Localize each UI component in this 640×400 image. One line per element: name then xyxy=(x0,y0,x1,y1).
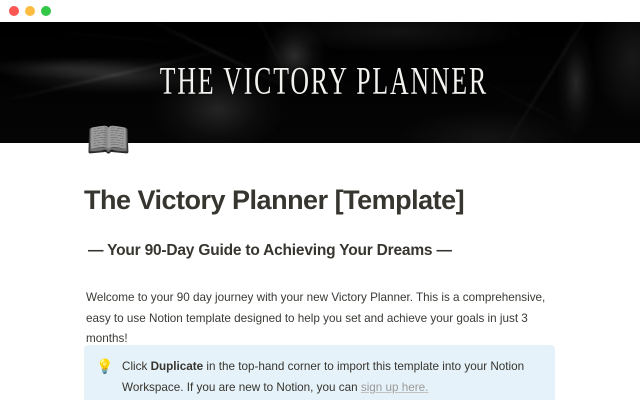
close-window-button[interactable] xyxy=(9,6,19,16)
callout-text-lead: Click xyxy=(122,360,151,373)
minimize-window-button[interactable] xyxy=(25,6,35,16)
page-subtitle[interactable]: — Your 90-Day Guide to Achieving Your Dr… xyxy=(88,242,556,260)
callout-text: Click Duplicate in the top-hand corner t… xyxy=(122,356,541,398)
intro-paragraph[interactable]: Welcome to your 90 day journey with your… xyxy=(86,288,556,350)
callout-block[interactable]: 💡 Click Duplicate in the top-hand corner… xyxy=(84,345,555,400)
callout-bold-word: Duplicate xyxy=(151,360,204,373)
notion-page-window: THE VICTORY PLANNER 📖 The Victory Planne… xyxy=(0,0,640,400)
lightbulb-icon: 💡 xyxy=(96,356,112,398)
sign-up-here-link[interactable]: sign up here. xyxy=(361,381,429,394)
open-book-icon[interactable]: 📖 xyxy=(86,119,128,161)
cover-title-text: THE VICTORY PLANNER xyxy=(70,22,569,143)
page-content: The Victory Planner [Template] — Your 90… xyxy=(0,143,640,350)
window-titlebar xyxy=(0,0,640,22)
page-title[interactable]: The Victory Planner [Template] xyxy=(84,186,556,216)
maximize-window-button[interactable] xyxy=(41,6,51,16)
traffic-light-group xyxy=(9,6,51,16)
